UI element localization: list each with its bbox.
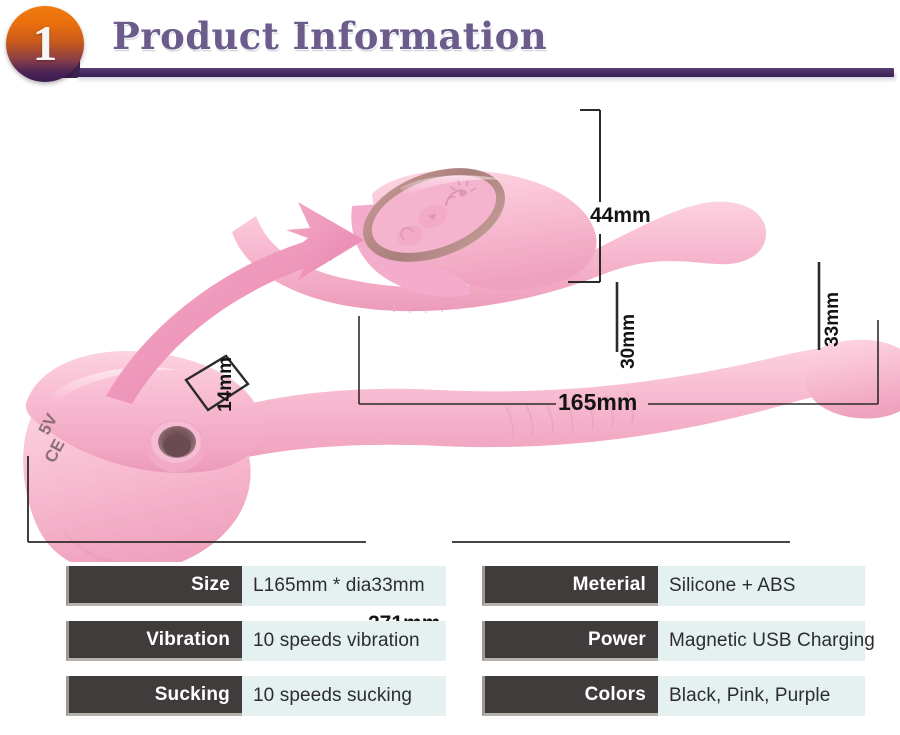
step-badge: 1 bbox=[6, 6, 86, 86]
spec-label-size: Size bbox=[66, 566, 242, 606]
dimension-label-14mm: 14mm bbox=[215, 357, 237, 412]
spec-label-meterial: Meterial bbox=[482, 566, 658, 606]
spec-row: Sucking 10 speeds sucking bbox=[66, 676, 446, 716]
spec-value-vibration: 10 speeds vibration bbox=[242, 621, 446, 661]
spec-value-meterial: Silicone + ABS bbox=[658, 566, 865, 606]
spec-table-right: Meterial Silicone + ABS Power Magnetic U… bbox=[482, 566, 882, 731]
dimension-label-33mm: 33mm bbox=[822, 292, 844, 347]
spec-value-sucking: 10 speeds sucking bbox=[242, 676, 446, 716]
dimension-label-165mm: 165mm bbox=[558, 389, 637, 416]
spec-label-vibration: Vibration bbox=[66, 621, 242, 661]
dimension-label-44mm: 44mm bbox=[590, 204, 651, 228]
main-product: 5V CE bbox=[23, 340, 900, 562]
spec-value-colors: Black, Pink, Purple bbox=[658, 676, 865, 716]
header-rule bbox=[70, 68, 894, 77]
spec-value-size: L165mm * dia33mm bbox=[242, 566, 446, 606]
specification-tables: Size L165mm * dia33mm Vibration 10 speed… bbox=[0, 566, 900, 735]
page-title: Product Information bbox=[112, 14, 547, 58]
spec-label-colors: Colors bbox=[482, 676, 658, 716]
spec-row: Meterial Silicone + ABS bbox=[482, 566, 882, 606]
step-badge-number: 1 bbox=[6, 6, 84, 82]
page-header: 1 Product Information bbox=[0, 0, 900, 90]
product-illustration: 5V CE bbox=[0, 84, 900, 562]
spec-table-left: Size L165mm * dia33mm Vibration 10 speed… bbox=[66, 566, 446, 731]
spec-row: Power Magnetic USB Charging bbox=[482, 621, 882, 661]
suction-nozzle bbox=[146, 420, 206, 472]
spec-label-power: Power bbox=[482, 621, 658, 661]
dimension-label-30mm: 30mm bbox=[618, 314, 640, 369]
spec-row: Vibration 10 speeds vibration bbox=[66, 621, 446, 661]
spec-row: Size L165mm * dia33mm bbox=[66, 566, 446, 606]
spec-value-power: Magnetic USB Charging bbox=[658, 621, 865, 661]
spec-label-sucking: Sucking bbox=[66, 676, 242, 716]
spec-row: Colors Black, Pink, Purple bbox=[482, 676, 882, 716]
